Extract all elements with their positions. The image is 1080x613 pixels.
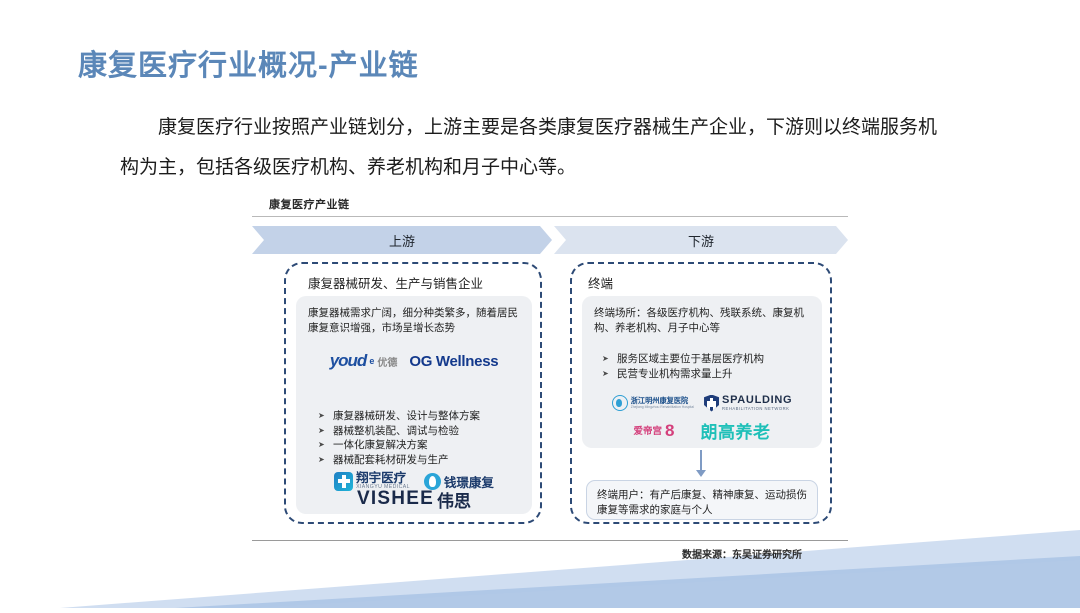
- source-note: 数据来源：东吴证券研究所: [682, 546, 802, 561]
- langgao-eldercare-logo: 朗高养老: [700, 418, 770, 443]
- list-item: 康复器械研发、设计与整体方案: [318, 409, 480, 424]
- youde-logo-main: youd: [330, 351, 367, 371]
- chevron-band: 上游 下游: [252, 226, 848, 254]
- end-user-callout: 终端用户：有产后康复、精神康复、运动损伤康复等需求的家庭与个人: [586, 480, 818, 520]
- xiangyu-logo-cn: 翔宇医疗: [356, 473, 410, 484]
- upstream-bullet-list: 康复器械研发、设计与整体方案 器械整机装配、调试与检验 一体化康复解决方案 器械…: [318, 409, 480, 467]
- figure-title: 康复医疗产业链: [269, 196, 350, 212]
- figure-title-rule: [252, 216, 848, 217]
- mingzhou-logo-en: Zhejiang Mingzhou Rehabilitation Hospita…: [631, 405, 694, 409]
- spaulding-logo: SPAULDING REHABILITATION NETWORK: [704, 395, 792, 412]
- youde-logo-sup: e: [369, 356, 374, 366]
- og-wellness-logo-text: OG Wellness: [409, 353, 498, 370]
- shield-icon: [704, 395, 719, 412]
- upstream-description: 康复器械需求广阔，细分种类繁多，随着居民康复意识增强，市场呈增长态势: [308, 306, 522, 336]
- upstream-logo-row-top: youde 优德 OG Wellness: [304, 348, 524, 374]
- connector-line: [700, 450, 702, 472]
- youde-logo-cn: 优德: [377, 354, 397, 369]
- vishee-logo: VISHEE 伟思: [357, 487, 471, 512]
- upstream-heading: 康复器械研发、生产与销售企业: [308, 273, 483, 292]
- mingzhou-logo-cn: 浙江明州康复医院: [631, 397, 694, 405]
- downstream-heading: 终端: [588, 273, 613, 292]
- og-wellness-logo: OG Wellness: [409, 353, 498, 370]
- aidigong-logo-cn: 爱帝宫: [634, 423, 663, 437]
- downstream-description: 终端场所：各级医疗机构、残联系统、康复机构、养老机构、月子中心等: [594, 306, 808, 336]
- downstream-bullet-list: 服务区域主要位于基层医疗机构 民营专业机构需求量上升: [602, 352, 764, 381]
- downstream-panel: 终端场所：各级医疗机构、残联系统、康复机构、养老机构、月子中心等 服务区域主要位…: [582, 296, 822, 448]
- mingzhou-mark-icon: [612, 395, 628, 411]
- page-title: 康复医疗行业概况-产业链: [78, 42, 419, 84]
- upstream-logo-row-bottom: VISHEE 伟思: [304, 486, 524, 512]
- vishee-logo-en: VISHEE: [357, 488, 434, 510]
- mingzhou-hospital-logo: 浙江明州康复医院 Zhejiang Mingzhou Rehabilitatio…: [612, 395, 694, 411]
- aidigong-logo: 爱帝宫 8: [634, 423, 675, 438]
- aidigong-mark-icon: 8: [665, 423, 674, 438]
- downstream-box: 终端 终端场所：各级医疗机构、残联系统、康复机构、养老机构、月子中心等 服务区域…: [570, 262, 832, 524]
- spaulding-logo-sub: REHABILITATION NETWORK: [722, 406, 792, 411]
- connector-arrow-icon: [696, 470, 706, 477]
- chevron-upstream: 上游: [252, 226, 552, 254]
- list-item: 器械整机装配、调试与检验: [318, 424, 480, 439]
- list-item: 器械配套耗材研发与生产: [318, 453, 480, 468]
- source-rule: [252, 540, 848, 541]
- list-item: 民营专业机构需求量上升: [602, 367, 764, 382]
- youde-logo: youde 优德: [330, 351, 398, 371]
- upstream-panel: 康复器械需求广阔，细分种类繁多，随着居民康复意识增强，市场呈增长态势 youde…: [296, 296, 532, 514]
- upstream-box: 康复器械研发、生产与销售企业 康复器械需求广阔，细分种类繁多，随着居民康复意识增…: [284, 262, 542, 524]
- downstream-logo-row-1: 浙江明州康复医院 Zhejiang Mingzhou Rehabilitatio…: [588, 392, 816, 414]
- list-item: 一体化康复解决方案: [318, 438, 480, 453]
- body-paragraph: 康复医疗行业按照产业链划分，上游主要是各类康复医疗器械生产企业，下游则以终端服务…: [120, 108, 950, 188]
- vishee-logo-cn: 伟思: [437, 487, 471, 512]
- downstream-logo-row-2: 爱帝宫 8 朗高养老: [588, 418, 816, 442]
- langgao-logo-cn: 朗高养老: [700, 418, 770, 443]
- industry-chain-figure: 康复医疗产业链 上游 下游 康复器械研发、生产与销售企业 康复器械需求广阔，细分…: [252, 196, 848, 564]
- spaulding-logo-en: SPAULDING: [722, 395, 792, 406]
- chevron-downstream: 下游: [554, 226, 848, 254]
- list-item: 服务区域主要位于基层医疗机构: [602, 352, 764, 367]
